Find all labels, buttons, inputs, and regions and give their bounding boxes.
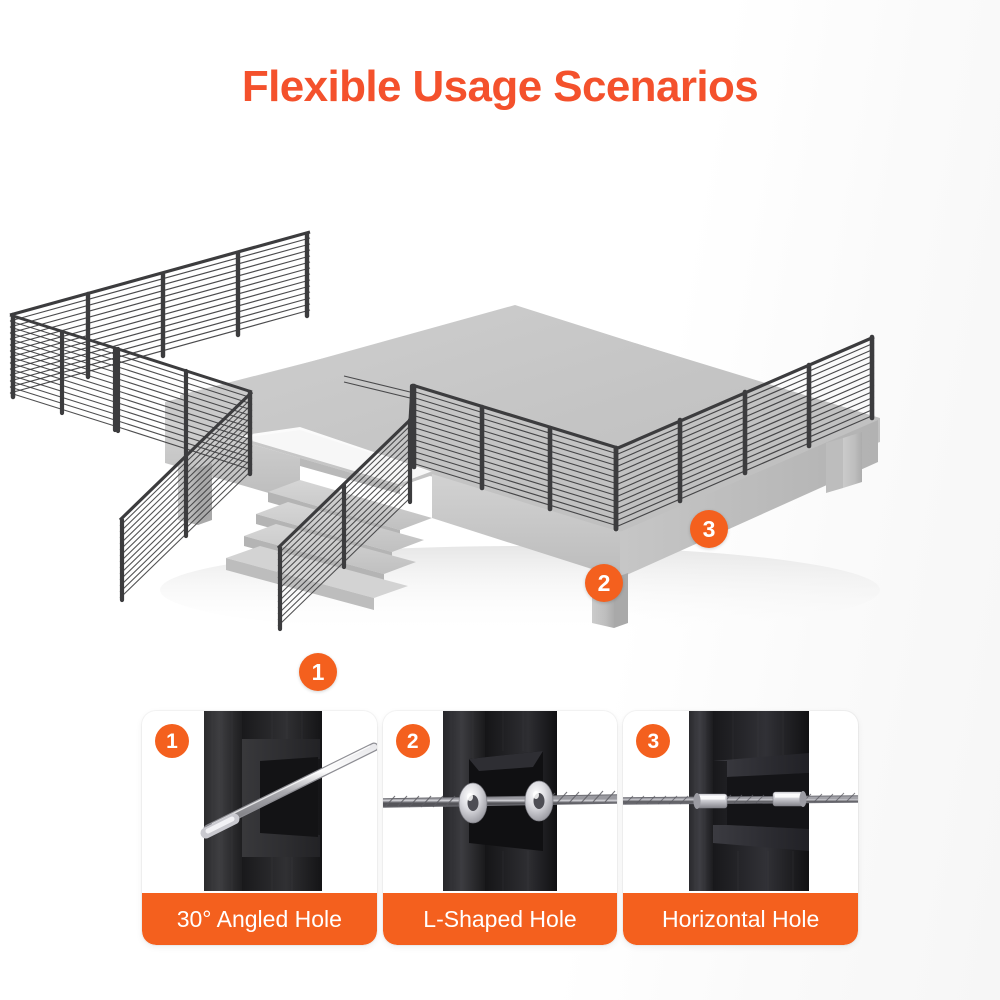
railing-left-return — [10, 315, 118, 430]
card-1-label: 30° Angled Hole — [142, 893, 377, 945]
hero-marker-1[interactable]: 1 — [299, 653, 337, 691]
sleeve-left-fitting — [694, 793, 728, 809]
feature-card-row: 1 30° Angled Hole — [142, 711, 858, 945]
deck-illustration: 1 2 3 — [0, 180, 1000, 650]
washer-right-fitting — [525, 781, 553, 821]
feature-card-horizontal-hole[interactable]: 3 Horizontal Hole — [623, 711, 858, 945]
feature-card-l-shaped-hole[interactable]: 2 L-Shaped Hole — [383, 711, 618, 945]
washer-left-fitting — [459, 783, 487, 823]
card-1-badge: 1 — [155, 724, 189, 758]
card-2-label: L-Shaped Hole — [383, 893, 618, 945]
page-title: Flexible Usage Scenarios — [0, 62, 1000, 112]
hero-marker-2[interactable]: 2 — [585, 564, 623, 602]
railing-back-left — [10, 232, 310, 397]
product-feature-page: Flexible Usage Scenarios — [0, 0, 1000, 1000]
card-2-badge: 2 — [396, 724, 430, 758]
hero-marker-3[interactable]: 3 — [690, 510, 728, 548]
deck-3d-render — [0, 180, 1000, 650]
feature-card-angled-hole[interactable]: 1 30° Angled Hole — [142, 711, 377, 945]
card-3-label: Horizontal Hole — [623, 893, 858, 945]
sleeve-right-fitting — [773, 791, 807, 807]
